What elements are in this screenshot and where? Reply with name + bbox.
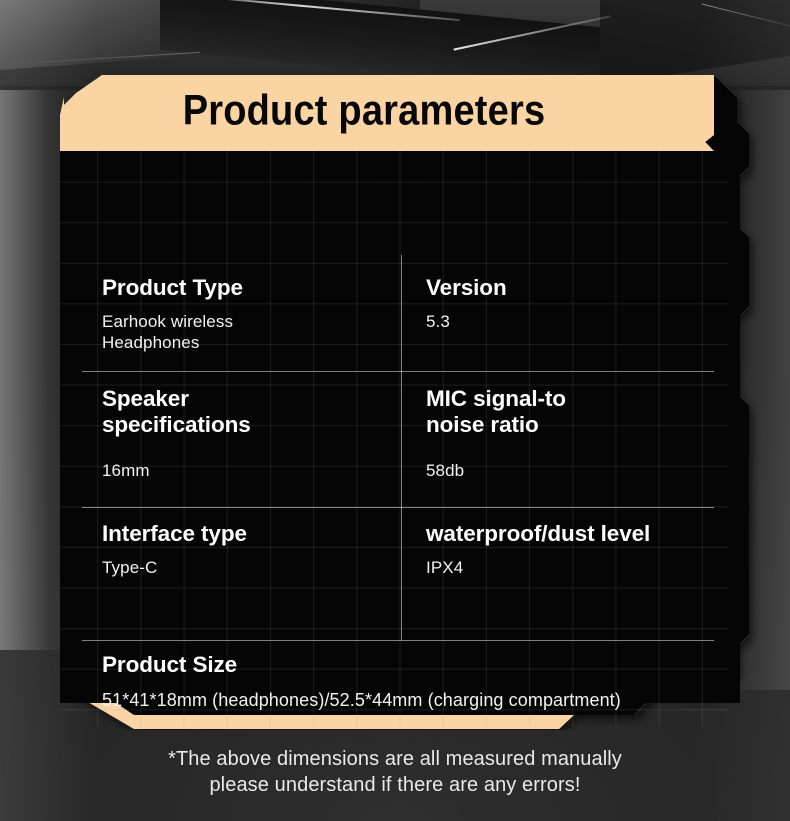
spec-card: Product parameters Product Type Earhook … — [14, 75, 776, 730]
table-divider-row1 — [82, 371, 714, 372]
cell-header: Speaker specifications — [102, 386, 387, 438]
table-cell-product-size: Product Size 51*41*18mm (headphones)/52.… — [102, 652, 728, 711]
cell-value: 16mm — [102, 460, 387, 481]
cell-header: waterproof/dust level — [426, 521, 726, 547]
table-divider-row3 — [82, 640, 714, 641]
table-cell-product-type: Product Type Earhook wireless Headphones — [102, 275, 387, 353]
cell-header: Product Type — [102, 275, 387, 301]
cell-value: Earhook wireless Headphones — [102, 311, 387, 353]
table-cell-version: Version 5.3 — [426, 275, 711, 332]
spec-table: Product Type Earhook wireless Headphones… — [60, 151, 728, 727]
table-cell-speaker-specifications: Speaker specifications 16mm — [102, 386, 387, 481]
spec-table-panel: Product Type Earhook wireless Headphones… — [60, 151, 728, 727]
cell-value: 5.3 — [426, 311, 711, 332]
footnote: *The above dimensions are all measured m… — [0, 746, 790, 799]
cell-header: Product Size — [102, 652, 728, 678]
table-cell-mic-snr: MIC signal-to noise ratio 58db — [426, 386, 711, 481]
cell-header: Interface type — [102, 521, 387, 547]
table-cell-waterproof-level: waterproof/dust level IPX4 — [426, 521, 726, 578]
cell-value: 58db — [426, 460, 711, 481]
table-cell-interface-type: Interface type Type-C — [102, 521, 387, 578]
cell-value: 51*41*18mm (headphones)/52.5*44mm (charg… — [102, 689, 728, 711]
cell-value: IPX4 — [426, 557, 726, 578]
table-divider-row2 — [82, 507, 714, 508]
cell-value: Type-C — [102, 557, 387, 578]
cell-header: Version — [426, 275, 711, 301]
page-title: Product parameters — [183, 90, 546, 133]
table-divider-column — [401, 255, 402, 640]
card-title-band-text: Product parameters — [14, 75, 714, 147]
cell-header: MIC signal-to noise ratio — [426, 386, 711, 438]
